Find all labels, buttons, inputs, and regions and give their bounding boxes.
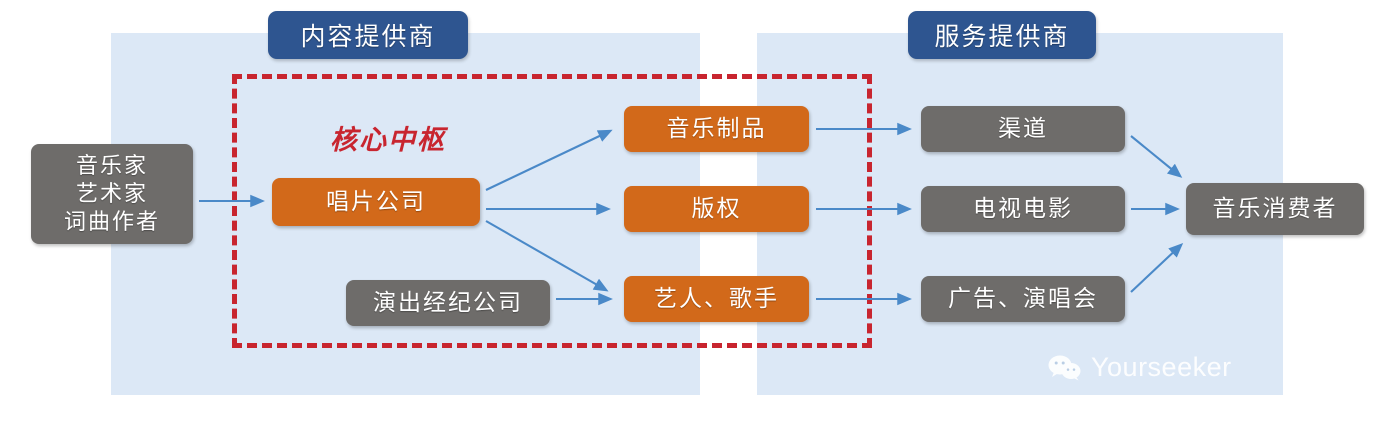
node-performance-agency: 演出经纪公司 — [346, 280, 550, 326]
zone-title-service-provider: 服务提供商 — [908, 11, 1096, 59]
zone-title-service-provider-label: 服务提供商 — [934, 17, 1069, 53]
node-music-products: 音乐制品 — [624, 106, 809, 152]
node-creators-line-1: 音乐家 — [64, 152, 160, 180]
node-record-label: 唱片公司 — [272, 178, 480, 226]
wechat-icon — [1048, 354, 1082, 382]
node-music-consumers: 音乐消费者 — [1186, 183, 1364, 235]
node-ads-concerts: 广告、演唱会 — [921, 276, 1125, 322]
node-channel: 渠道 — [921, 106, 1125, 152]
watermark-text: Yourseeker — [1091, 352, 1232, 383]
zone-title-content-provider-label: 内容提供商 — [300, 17, 435, 53]
node-creators-line-3: 词曲作者 — [64, 208, 160, 236]
zone-title-content-provider: 内容提供商 — [268, 11, 468, 59]
diagram-canvas: 内容提供商 服务提供商 核心中枢 音乐家 艺术家 词曲作者 唱片公司 音乐制品 … — [0, 0, 1397, 427]
watermark: Yourseeker — [1048, 352, 1232, 383]
node-artists-singers: 艺人、歌手 — [624, 276, 809, 322]
core-hub-annotation: 核心中枢 — [330, 118, 446, 157]
node-tv-film: 电视电影 — [921, 186, 1125, 232]
node-creators: 音乐家 艺术家 词曲作者 — [31, 144, 193, 244]
node-creators-line-2: 艺术家 — [64, 180, 160, 208]
node-copyright: 版权 — [624, 186, 809, 232]
